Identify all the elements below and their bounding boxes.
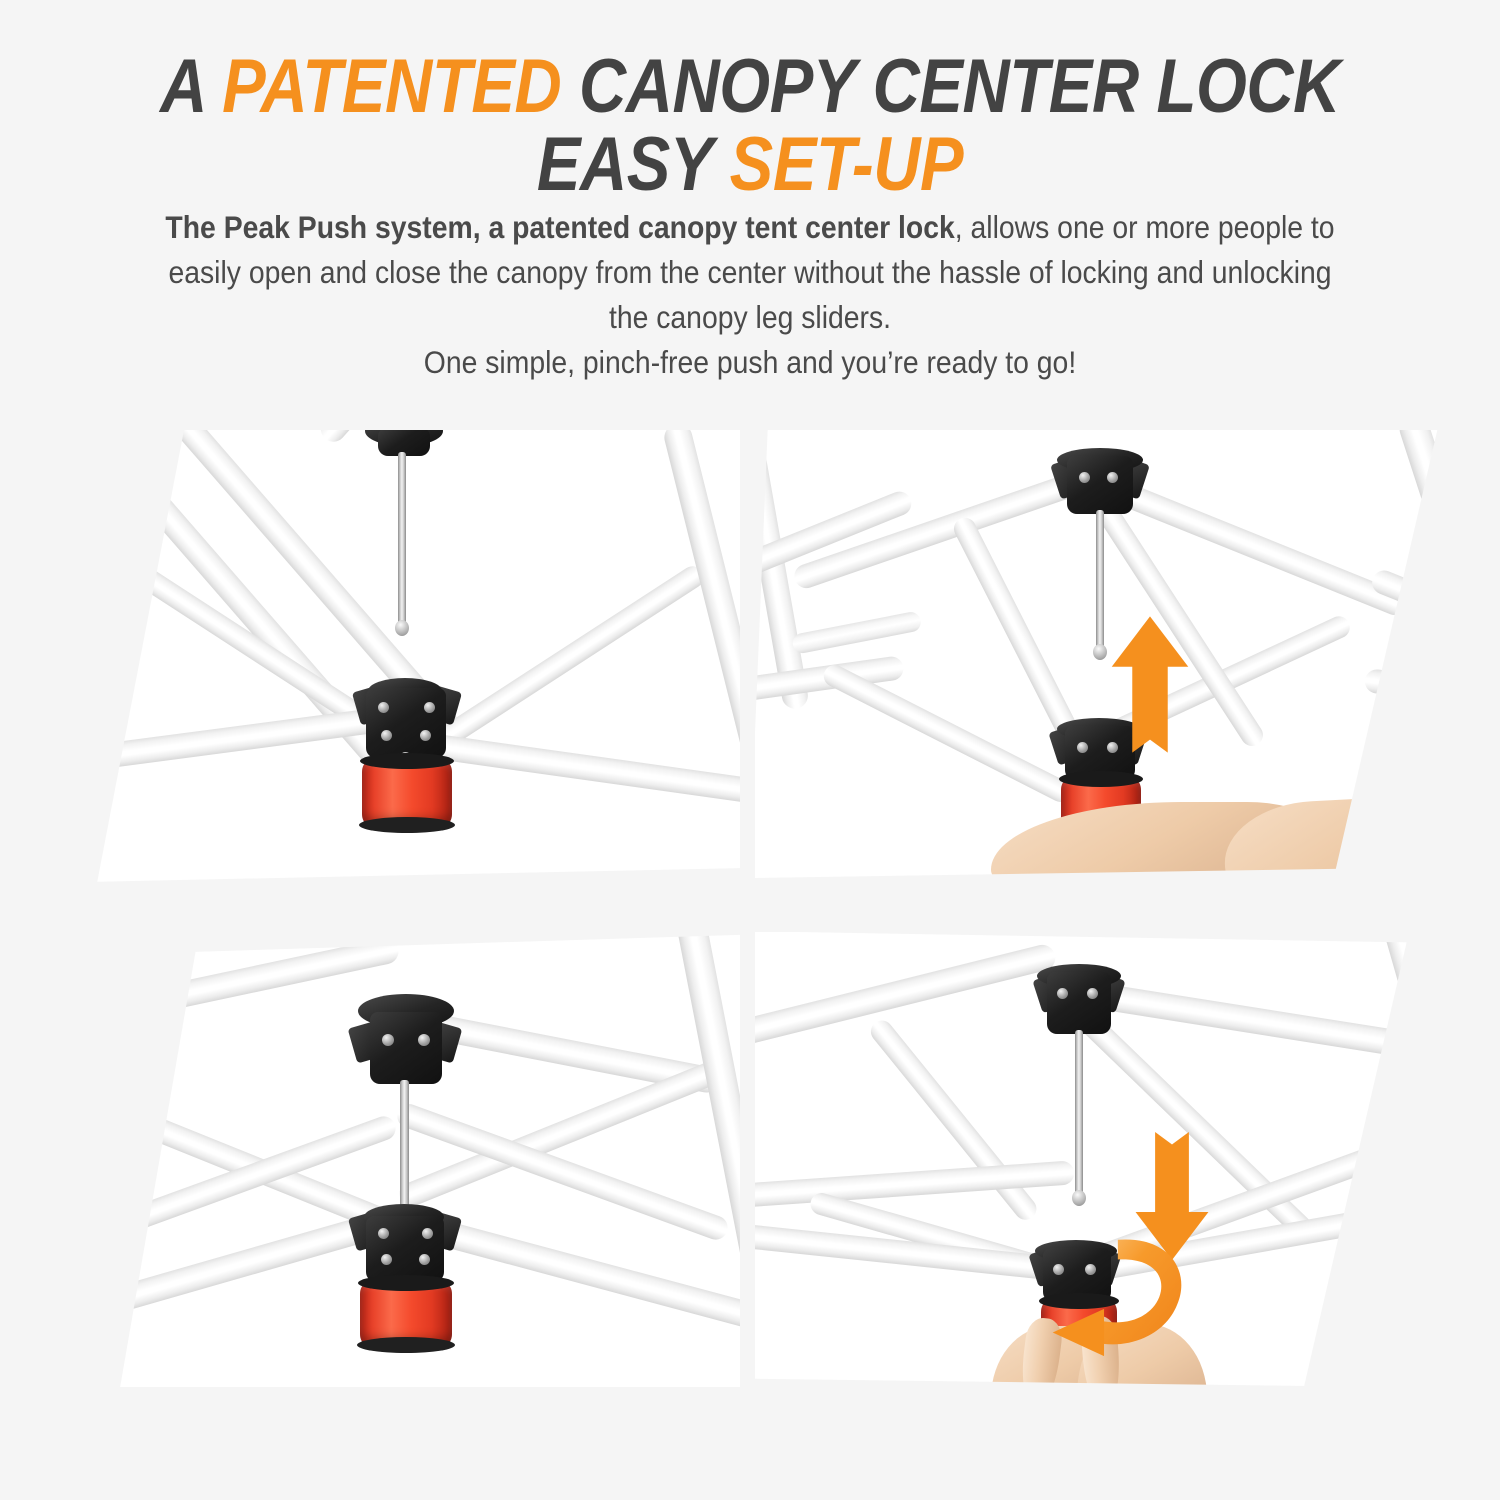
arrow-up-icon <box>1108 612 1192 772</box>
hub-screw <box>418 1034 430 1046</box>
lock-hub-body <box>366 688 446 758</box>
hub-screw <box>378 702 389 713</box>
panel-bottom-right <box>755 932 1500 1387</box>
apex-hub-body <box>1047 972 1111 1034</box>
red-lock-collar[interactable] <box>360 1284 452 1344</box>
hub-screw <box>382 1034 394 1046</box>
center-push-rod <box>1096 510 1104 652</box>
hub-screw <box>381 1254 392 1265</box>
red-lock-collar[interactable] <box>362 762 452 824</box>
headline-accent-patented: PATENTED <box>222 44 561 129</box>
hub-screw <box>1057 988 1068 999</box>
infographic-root: A PATENTED CANOPY CENTER LOCK EASY SET-U… <box>0 0 1500 1500</box>
center-push-rod <box>400 1080 409 1222</box>
hub-screw <box>1087 988 1098 999</box>
hub-screw <box>1107 472 1118 483</box>
headline-line-1: A PATENTED CANOPY CENTER LOCK <box>105 48 1395 126</box>
panel-top-left <box>0 430 740 885</box>
arrow-curved-twist-icon <box>1023 1222 1191 1370</box>
description-closing: One simple, pinch-free push and you’re r… <box>156 340 1344 385</box>
headline-line1-post: CANOPY CENTER LOCK <box>561 44 1340 129</box>
lock-hub-body <box>366 1216 444 1282</box>
center-push-rod <box>1075 1030 1083 1198</box>
hub-screw <box>419 1254 430 1265</box>
page-title: A PATENTED CANOPY CENTER LOCK EASY SET-U… <box>105 48 1395 203</box>
hub-screw <box>420 730 431 741</box>
headline-line-2: EASY SET-UP <box>105 126 1395 204</box>
description-bold-lead: The Peak Push system, a patented canopy … <box>165 209 954 245</box>
hub-screw <box>378 1228 389 1239</box>
center-push-rod <box>398 452 406 628</box>
upper-hub-body <box>370 1012 442 1084</box>
headline-line2-pre: EASY <box>537 122 730 207</box>
hub-screw <box>381 730 392 741</box>
description-paragraph: The Peak Push system, a patented canopy … <box>156 205 1344 385</box>
hub-screw <box>424 702 435 713</box>
hub-screw <box>1079 472 1090 483</box>
rod-tip <box>1093 644 1107 660</box>
rod-tip <box>1072 1190 1086 1206</box>
panel-bottom-left <box>0 932 740 1387</box>
hub-screw <box>422 1228 433 1239</box>
hub-screw <box>1077 742 1088 753</box>
headline-accent-setup: SET-UP <box>730 122 963 207</box>
rod-tip <box>395 620 409 636</box>
apex-hub-body <box>1067 456 1133 514</box>
headline-line1-pre: A <box>160 44 222 129</box>
